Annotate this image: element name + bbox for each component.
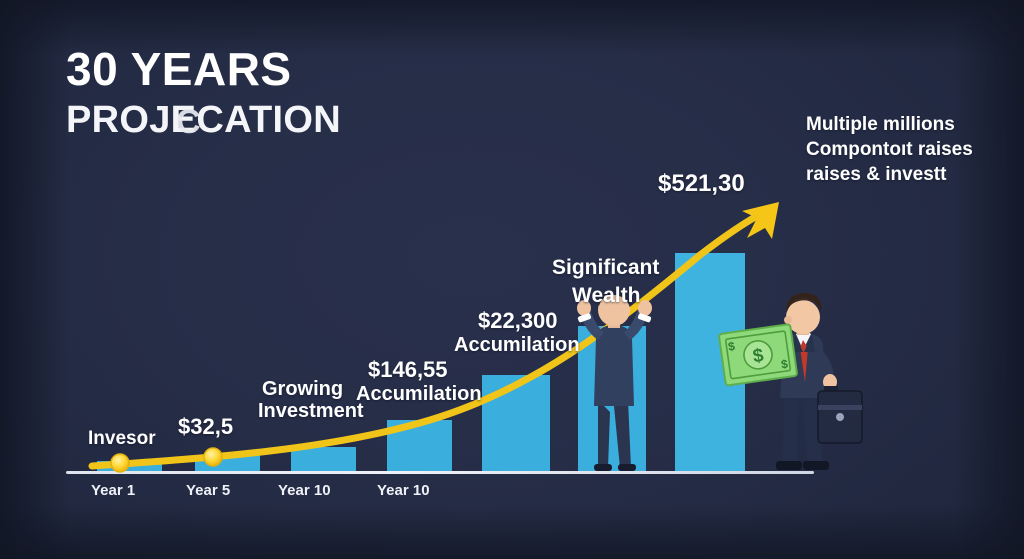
x-axis-tick-3: Year 10 [377,482,430,499]
label-invesor: Invesor [88,428,156,450]
label-growing: Growing [262,378,343,401]
page-subtitle: PROJECATION C [66,98,341,142]
x-axis-line [66,471,814,474]
label-value-32-5: $32,5 [178,414,233,440]
label-significant: Significant [552,256,659,280]
x-axis-tick-0: Year 1 [91,482,135,499]
label-investment: Investment [258,400,364,423]
label-value-521-30: $521,30 [658,170,745,198]
bar-stage-2 [195,455,260,472]
label-value-146-55: $146,55 [368,357,448,383]
bar-stage-7 [675,253,745,472]
page-subtitle-text: PROJECATION [66,99,341,141]
right-annotation: Multiple millions Compontoıt raises rais… [806,112,973,187]
subtitle-overlap-glyph: C [176,100,201,144]
title-block: 30 YEARS PROJECATION C [66,44,341,142]
bar-stage-6 [578,326,646,472]
infographic-canvas: 30 YEARS PROJECATION C [0,0,1024,559]
x-axis-tick-2: Year 10 [278,482,331,499]
label-accumilation-1: Accumilation [356,383,482,406]
label-wealth: Wealth [572,284,640,308]
label-accumilation-2: Accumilation [454,334,580,357]
bar-stage-3 [291,447,356,472]
bar-stage-4 [387,420,452,472]
right-annotation-line-3: raises & investt [806,162,973,187]
x-axis-tick-1: Year 5 [186,482,230,499]
right-annotation-line-2: Compontoıt raises [806,137,973,162]
right-annotation-line-1: Multiple millions [806,112,973,137]
bar-stage-5 [482,375,550,472]
page-title: 30 YEARS [66,44,341,94]
label-value-22-300: $22,300 [478,308,558,334]
